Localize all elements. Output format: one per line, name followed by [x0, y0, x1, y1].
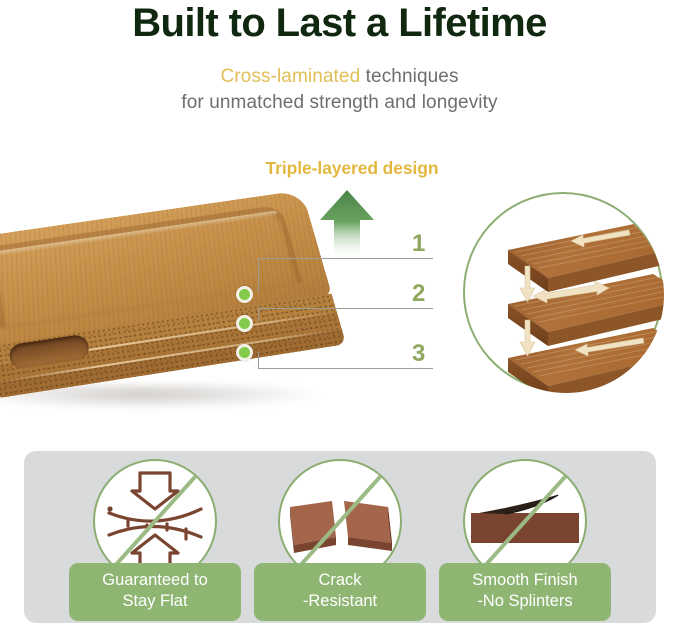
layer-dot-1	[236, 286, 253, 303]
layer-number-3: 3	[412, 340, 425, 368]
leader-stub-2	[258, 308, 259, 322]
page-subtitle: Cross-laminated techniques for unmatched…	[0, 64, 679, 116]
diagram-layers	[463, 192, 663, 392]
feature-label: Crack -Resistant	[254, 563, 426, 621]
leader-stub-3	[258, 352, 259, 368]
feature-stay-flat[interactable]: Guaranteed to Stay Flat	[60, 459, 250, 615]
section-title: Triple-layered design	[232, 158, 472, 179]
leader-line-2	[258, 308, 433, 309]
subtitle-line-2: for unmatched strength and longevity	[181, 92, 497, 113]
feature-label: Guaranteed to Stay Flat	[69, 563, 241, 621]
page-title: Built to Last a Lifetime	[0, 2, 679, 45]
layer-dot-3	[236, 344, 253, 361]
layer-number-2: 2	[412, 280, 425, 308]
leader-stub-1	[258, 258, 259, 292]
leader-line-3	[258, 368, 433, 369]
features-panel: Guaranteed to Stay Flat Cr	[24, 451, 656, 623]
triple-layer-section: Triple-layered design	[0, 140, 679, 440]
subtitle-rest: techniques	[360, 66, 458, 87]
layer-dot-2	[236, 315, 253, 332]
layer-number-1: 1	[412, 230, 425, 258]
lamination-diagram	[461, 190, 671, 400]
subtitle-highlight: Cross-laminated	[220, 66, 360, 87]
feature-smooth-finish[interactable]: Smooth Finish -No Splinters	[430, 459, 620, 615]
feature-label: Smooth Finish -No Splinters	[439, 563, 611, 621]
feature-crack-resistant[interactable]: Crack -Resistant	[245, 459, 435, 615]
leader-line-1	[258, 258, 433, 259]
bamboo-board-photo	[0, 218, 336, 418]
